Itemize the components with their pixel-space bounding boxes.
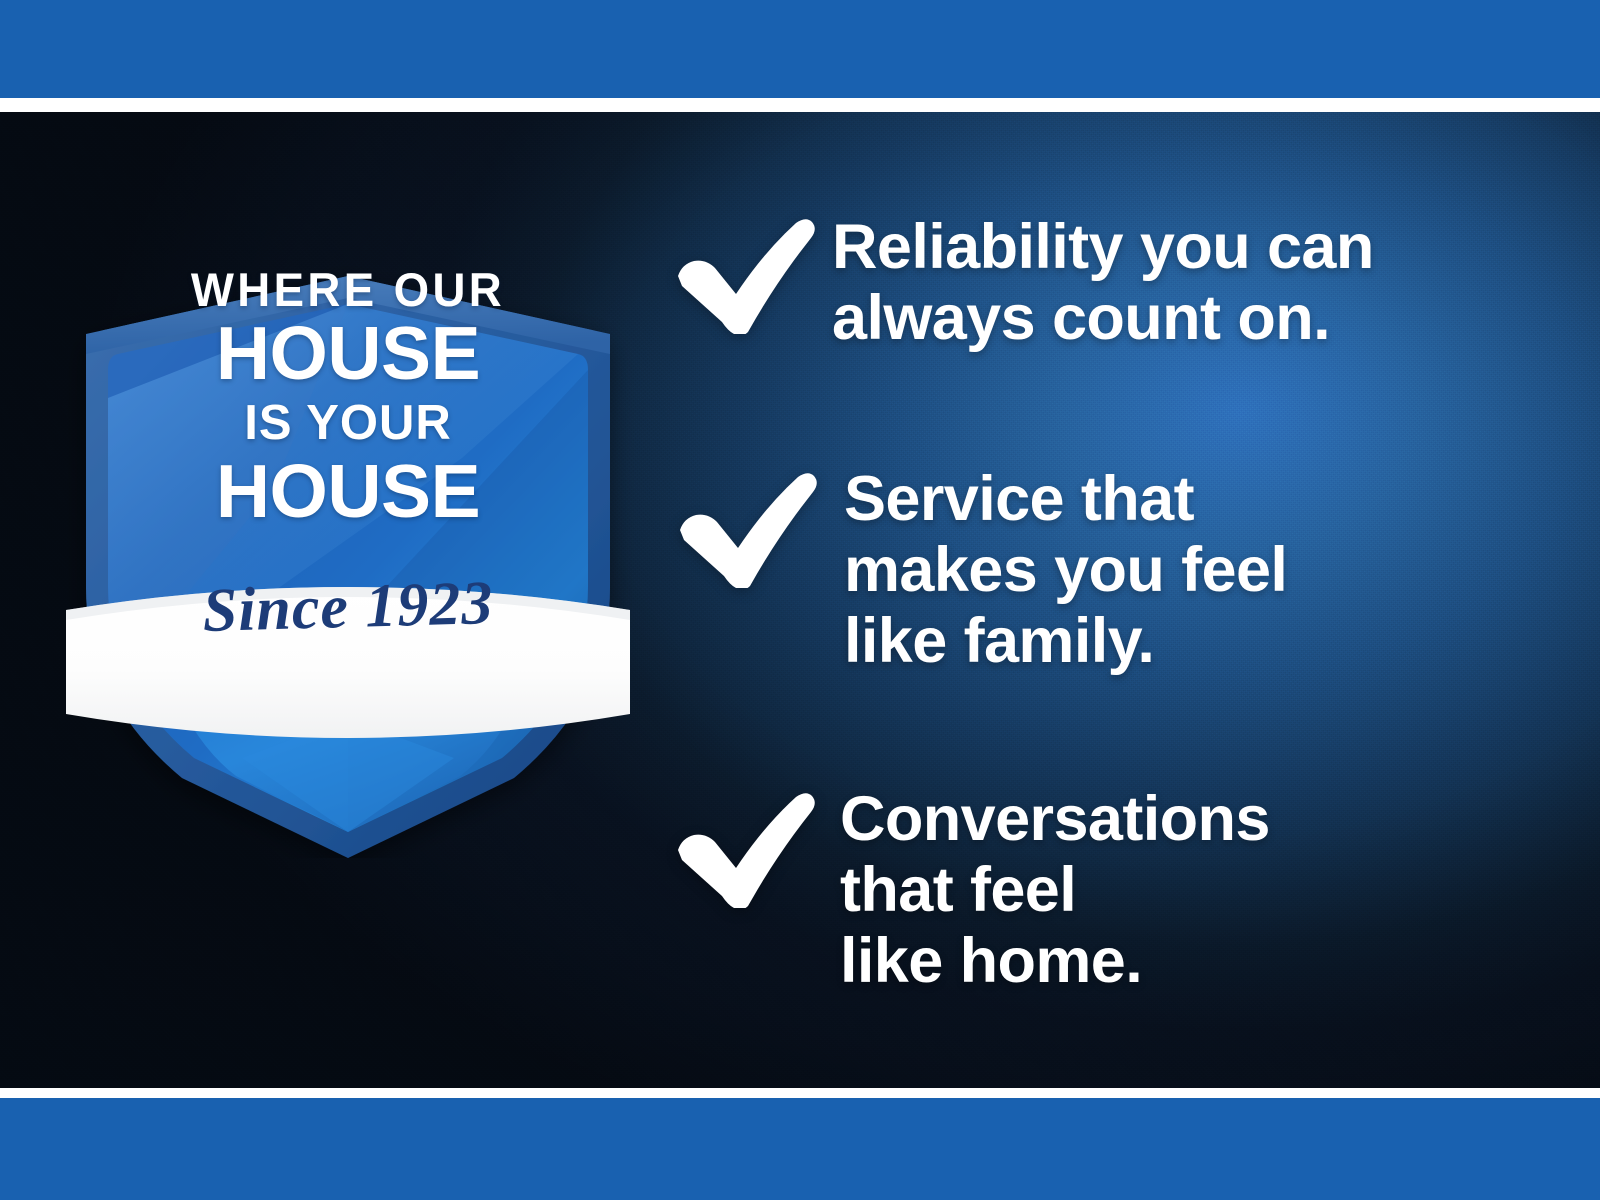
shield-graphic [62,158,634,858]
shield-badge: Where our House is your House Since 1923 [62,158,634,858]
check-icon [674,464,820,588]
check-icon [672,784,818,908]
checklist-item: Conversations that feel like home. [672,784,1460,998]
checklist-item-text: Conversations that feel like home. [840,784,1460,998]
check-icon [672,212,818,334]
bottom-brand-bar [0,1098,1600,1200]
shield-banner [66,587,630,738]
checklist-item-text: Reliability you can always count on. [832,212,1512,354]
checklist-item: Service that makes you feel like family. [674,464,1464,678]
promo-poster: Where our House is your House Since 1923… [0,0,1600,1200]
benefits-checklist: Reliability you can always count on. Ser… [672,112,1532,1088]
checklist-item: Reliability you can always count on. [672,212,1512,354]
checklist-item-text: Service that makes you feel like family. [844,464,1464,678]
top-brand-bar [0,0,1600,98]
